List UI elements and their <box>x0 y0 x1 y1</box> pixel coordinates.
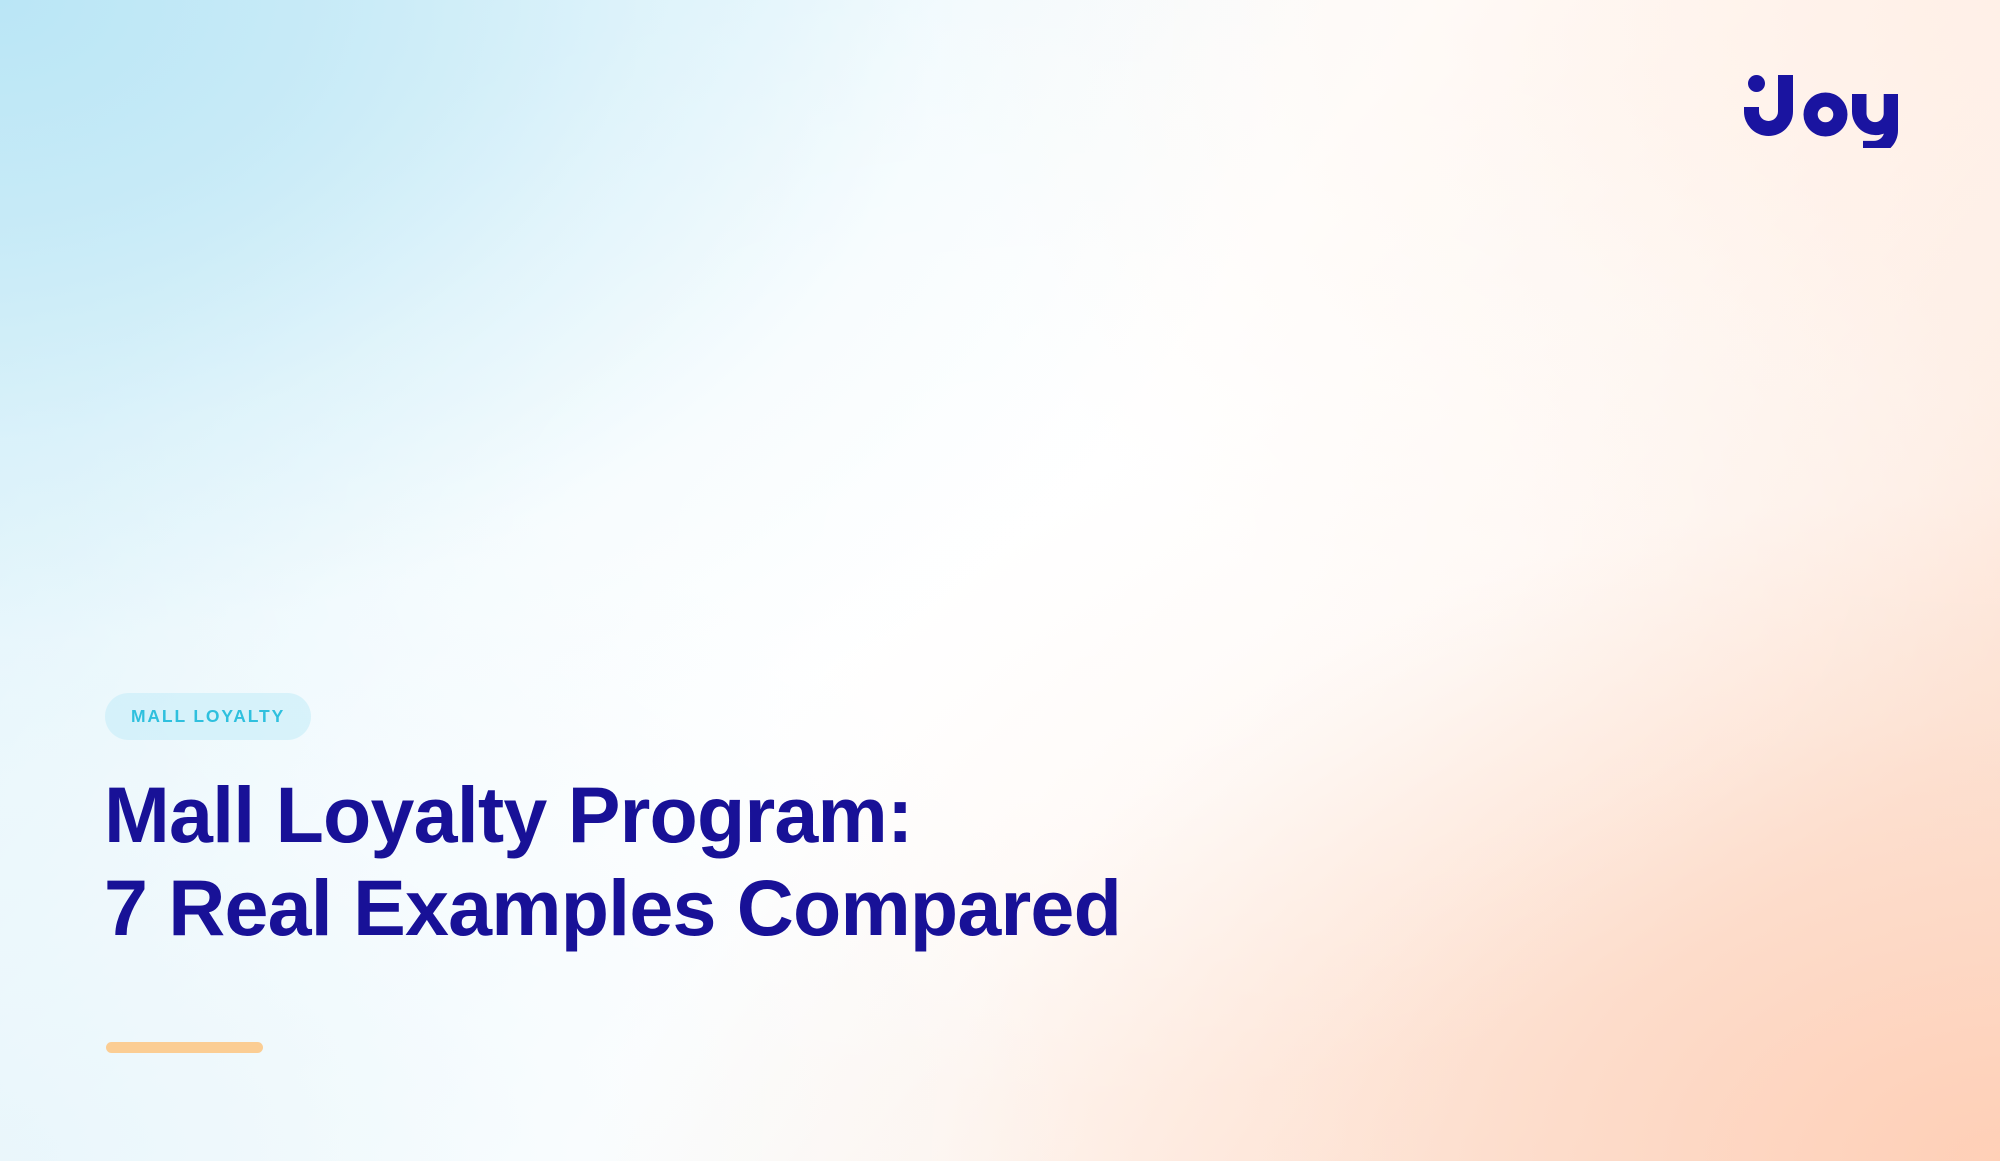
accent-bar <box>106 1042 263 1053</box>
page-title: Mall Loyalty Program: 7 Real Examples Co… <box>104 768 1121 954</box>
hero-banner: MALL LOYALTY Mall Loyalty Program: 7 Rea… <box>0 0 2000 1161</box>
page-title-line-2: 7 Real Examples Compared <box>104 861 1121 954</box>
page-title-line-1: Mall Loyalty Program: <box>104 768 1121 861</box>
joy-logo[interactable] <box>1742 66 1902 148</box>
joy-dot-icon <box>1748 75 1765 92</box>
category-badge: MALL LOYALTY <box>105 693 311 740</box>
category-badge-label: MALL LOYALTY <box>131 708 285 726</box>
joy-wordmark-icon <box>1742 66 1902 148</box>
